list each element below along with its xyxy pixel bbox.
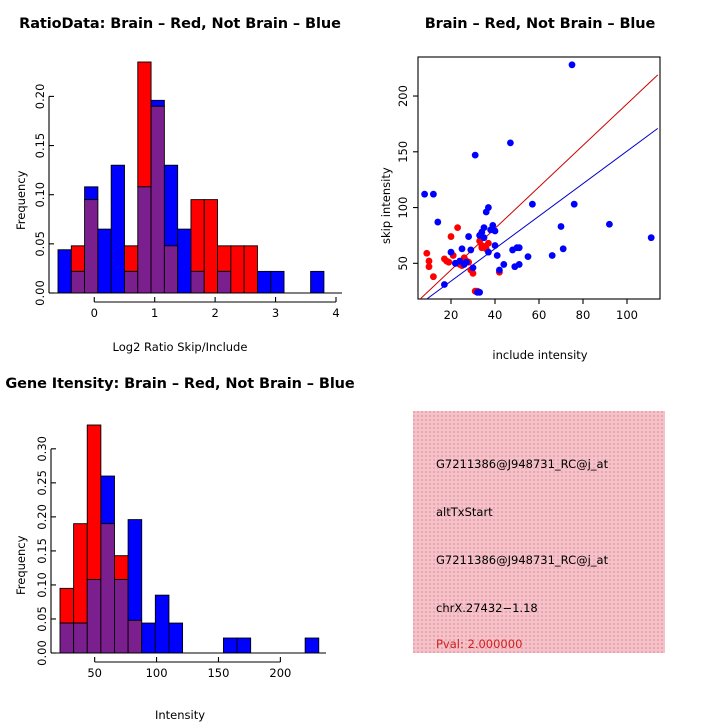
panel-annotation-info: G7211386@J948731_RC@j_at altTxStart G721… — [360, 360, 720, 720]
y-tick-label: 0.25 — [35, 470, 49, 496]
histogram-bar-overlap — [164, 246, 177, 293]
histogram-bar — [85, 187, 98, 200]
histogram-bar-overlap — [128, 620, 142, 653]
histogram-bar-overlap — [87, 579, 101, 653]
scatter-point — [430, 273, 437, 280]
x-axis: 20406080100 — [444, 299, 638, 322]
ratio-xaxis-label: Log2 Ratio Skip/Include — [0, 340, 360, 354]
x-tick-label: 100 — [616, 308, 638, 322]
x-tick-label: 150 — [207, 666, 229, 680]
x-tick-label: 80 — [576, 308, 591, 322]
x-tick-label: 20 — [444, 308, 459, 322]
x-tick-label: 40 — [488, 308, 503, 322]
x-tick-label: 3 — [272, 306, 279, 320]
locus: chrX.27432−1.18 — [436, 601, 538, 615]
scatter-point — [423, 250, 430, 257]
x-tick-label: 4 — [332, 306, 339, 320]
scatter-point — [441, 281, 448, 288]
scatter-point — [485, 240, 492, 247]
histogram-bar — [111, 165, 124, 293]
y-tick-label: 0.00 — [33, 280, 47, 306]
scatter-point — [445, 259, 452, 266]
histogram-bar — [98, 229, 111, 293]
scatter-point — [496, 267, 503, 274]
histogram-bar-overlap — [124, 271, 137, 293]
histogram-bar — [223, 638, 237, 653]
y-tick-label: 150 — [396, 141, 410, 163]
histogram-bar — [151, 100, 164, 106]
histogram-bar — [124, 246, 137, 272]
x-tick-label: 60 — [532, 308, 547, 322]
annotation-info-box: G7211386@J948731_RC@j_at altTxStart G721… — [413, 411, 665, 653]
y-tick-label: 0.30 — [35, 436, 49, 462]
y-tick-label: 200 — [396, 85, 410, 107]
pvalue-text: Pval: 2.000000 — [436, 637, 522, 651]
y-tick-label: 0.05 — [33, 231, 47, 257]
histogram-bar — [311, 271, 324, 293]
histogram-bar — [218, 246, 231, 272]
histogram-bar — [164, 165, 177, 246]
histogram-bar — [87, 425, 101, 579]
histogram-bar-overlap — [101, 524, 115, 653]
scatter-point — [571, 201, 578, 208]
probe-id-secondary: G7211386@J948731_RC@j_at — [436, 553, 608, 567]
scatter-point — [467, 247, 474, 254]
gene-yaxis-label: Frequency — [14, 535, 28, 594]
scatter-point — [426, 263, 433, 270]
histogram-bar-overlap — [60, 623, 74, 653]
hist-bars-group — [58, 62, 324, 293]
x-tick-label: 1 — [151, 306, 158, 320]
histogram-bar — [155, 595, 169, 653]
panel-ratio-histogram: RatioData: Brain – Red, Not Brain – Blue… — [0, 0, 360, 360]
scatter-point — [507, 139, 514, 146]
histogram-bar — [138, 62, 151, 187]
scatter-point — [459, 245, 466, 252]
histogram-bar — [178, 229, 191, 293]
histogram-bar — [305, 638, 319, 653]
y-axis: 0.000.050.100.150.200.250.30 — [35, 436, 56, 666]
y-tick-label: 0.15 — [33, 133, 47, 159]
scatter-point — [606, 221, 613, 228]
y-tick-label: 50 — [396, 256, 410, 271]
histogram-bar — [231, 246, 244, 293]
scatter-point — [448, 249, 455, 256]
scatter-point — [472, 152, 479, 159]
ratio-yaxis-label: Frequency — [14, 170, 28, 229]
scatter-point — [516, 244, 523, 251]
x-axis: 50100150200 — [87, 657, 291, 680]
y-tick-label: 0.15 — [35, 538, 49, 564]
x-tick-label: 200 — [269, 666, 291, 680]
scatter-point — [430, 191, 437, 198]
histogram-bar — [60, 588, 74, 623]
panel-gene-intensity-histogram: Gene Itensity: Brain – Red, Not Brain – … — [0, 360, 360, 720]
scatter-point — [569, 61, 576, 68]
histogram-bar — [114, 556, 128, 580]
x-tick-label: 100 — [146, 666, 168, 680]
histogram-bar-overlap — [151, 106, 164, 293]
event-type: altTxStart — [436, 505, 493, 519]
scatter-point — [516, 261, 523, 268]
histogram-bar-overlap — [191, 271, 204, 293]
y-tick-label: 0.10 — [33, 182, 47, 208]
histogram-bar-overlap — [218, 271, 231, 293]
y-axis: 0.000.050.100.150.20 — [33, 84, 54, 306]
hist-bars-group — [60, 425, 319, 653]
scatter-point — [421, 191, 428, 198]
histogram-bar-overlap — [74, 623, 88, 653]
panel-intensity-scatter: Brain – Red, Not Brain – Blue 5010015020… — [360, 0, 720, 360]
y-tick-label: 0.05 — [35, 606, 49, 632]
histogram-bar — [257, 271, 270, 293]
scatter-point — [448, 233, 455, 240]
scatter-point — [481, 224, 488, 231]
probe-id-primary: G7211386@J948731_RC@j_at — [436, 457, 608, 471]
scatter-point — [485, 204, 492, 211]
gene-intensity-histogram-plot: 0.000.050.100.150.200.250.3050100150200 — [0, 360, 360, 720]
histogram-bar — [244, 246, 257, 293]
scatter-point — [463, 259, 470, 266]
y-tick-label: 0.20 — [35, 504, 49, 530]
scatter-point — [500, 261, 507, 268]
histogram-bar — [271, 271, 284, 293]
scatter-point — [492, 242, 499, 249]
scatter-point — [485, 249, 492, 256]
scatter-content — [420, 61, 658, 299]
intensity-scatter-plot: 5010015020020406080100 — [360, 0, 720, 360]
y-tick-label: 0.20 — [33, 84, 47, 110]
figure-canvas: RatioData: Brain – Red, Not Brain – Blue… — [0, 0, 720, 720]
x-tick-label: 50 — [87, 666, 102, 680]
scatter-point — [481, 234, 488, 241]
scatter-point — [560, 245, 567, 252]
histogram-bar — [101, 476, 115, 524]
scatter-point — [648, 234, 655, 241]
histogram-bar — [142, 623, 156, 653]
scatter-point — [454, 224, 461, 231]
scatter-point — [434, 219, 441, 226]
histogram-bar-overlap — [114, 579, 128, 653]
scatter-point — [492, 228, 499, 235]
histogram-bar-overlap — [138, 187, 151, 293]
histogram-bar — [169, 623, 183, 653]
ratio-histogram-plot: 0.000.050.100.150.2001234 — [0, 0, 360, 360]
scatter-point — [476, 289, 483, 296]
x-tick-label: 0 — [91, 306, 98, 320]
x-axis: 01234 — [91, 297, 340, 320]
y-tick-label: 0.00 — [35, 640, 49, 666]
histogram-bar — [58, 250, 71, 293]
histogram-bar — [237, 638, 251, 653]
histogram-bar — [71, 246, 84, 272]
x-tick-label: 2 — [211, 306, 218, 320]
y-axis: 50100150200 — [396, 85, 418, 271]
y-tick-label: 0.10 — [35, 572, 49, 598]
scatter-point — [494, 252, 501, 259]
histogram-bar — [128, 520, 142, 621]
histogram-bar-overlap — [71, 271, 84, 293]
scatter-point — [529, 201, 536, 208]
scatter-point — [525, 253, 532, 260]
scatter-yaxis-label: skip intensity — [379, 167, 393, 244]
histogram-bar — [191, 200, 204, 272]
y-tick-label: 100 — [396, 197, 410, 219]
histogram-bar — [204, 200, 217, 293]
scatter-point — [470, 264, 477, 271]
histogram-bar — [74, 524, 88, 623]
histogram-bar-overlap — [85, 200, 98, 293]
scatter-point — [549, 252, 556, 259]
scatter-point — [558, 223, 565, 230]
not-brain-fit-line — [427, 128, 658, 299]
scatter-point — [465, 233, 472, 240]
